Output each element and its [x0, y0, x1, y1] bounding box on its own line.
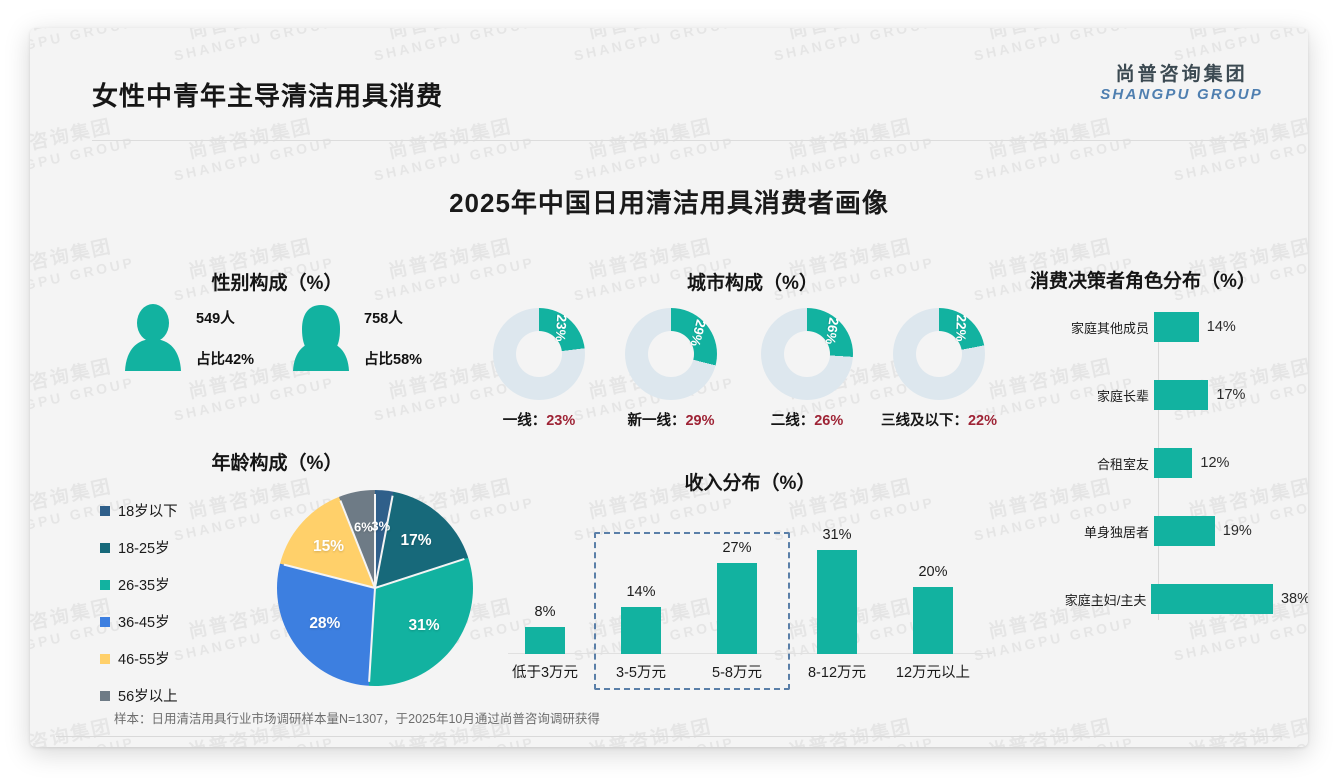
- male-avatar-icon: [122, 303, 184, 373]
- income-category-label: 低于3万元: [495, 661, 595, 682]
- role-bar[interactable]: [1154, 380, 1208, 410]
- legend-label: 26-35岁: [118, 574, 170, 595]
- legend-label: 18-25岁: [118, 537, 170, 558]
- donut-chart: 26%: [761, 308, 853, 400]
- income-category-label: 12万元以上: [883, 661, 983, 682]
- donut-group: 26%二线：26%: [748, 308, 866, 430]
- income-bar-value: 27%: [690, 540, 784, 556]
- decision-maker-role-section: 消费决策者角色分布（%） 家庭其他成员14%家庭长辈17%合租室友12%单身独居…: [1030, 266, 1308, 293]
- donut-value-label: 26%: [822, 316, 841, 345]
- donut-value-label: 23%: [553, 315, 570, 343]
- city-section-title: 城市构成（%）: [480, 268, 1025, 295]
- pie-slice-label: 15%: [313, 538, 344, 556]
- main-title: 2025年中国日用清洁用具消费者画像: [30, 183, 1308, 220]
- female-share: 占比58%: [364, 348, 422, 369]
- income-bar-group: 31%: [790, 527, 884, 655]
- income-bar-value: 8%: [498, 604, 592, 620]
- income-category-label: 3-5万元: [591, 661, 691, 682]
- pie-slice-label: 31%: [408, 617, 439, 635]
- donut-caption: 新一线：29%: [612, 409, 730, 430]
- legend-item[interactable]: 18-25岁: [100, 537, 178, 558]
- watermark-text: 尚普咨询集团SHANGPU GROUP: [968, 711, 1137, 747]
- legend-swatch: [100, 543, 110, 553]
- legend-item[interactable]: 36-45岁: [100, 611, 178, 632]
- watermark-text: 尚普咨询集团SHANGPU GROUP: [768, 111, 937, 185]
- donut-caption: 三线及以下：22%: [880, 409, 998, 430]
- income-bar-group: 8%: [498, 604, 592, 654]
- legend-label: 46-55岁: [118, 648, 170, 669]
- role-bar-row: 单身独居者19%: [1030, 516, 1308, 546]
- income-bar-value: 20%: [886, 564, 980, 580]
- legend-item[interactable]: 56岁以上: [100, 685, 178, 706]
- income-bar-value: 14%: [594, 584, 688, 600]
- watermark-text: 尚普咨询集团SHANGPU GROUP: [30, 111, 137, 185]
- donut-value-label: 22%: [953, 314, 969, 341]
- donut-value-label: 29%: [687, 318, 708, 348]
- donut-group: 23%一线：23%: [480, 308, 598, 430]
- watermark-text: 尚普咨询集团SHANGPU GROUP: [168, 111, 337, 185]
- income-bar[interactable]: [717, 563, 757, 654]
- legend-swatch: [100, 506, 110, 516]
- income-bar[interactable]: [525, 627, 565, 654]
- male-stats: 549人 占比42%: [196, 307, 254, 369]
- role-bar-row: 家庭长辈17%: [1030, 380, 1308, 410]
- income-bar-group: 27%: [690, 540, 784, 654]
- pie-slice-label: 17%: [400, 532, 431, 550]
- income-bar-group: 20%: [886, 564, 980, 654]
- sample-note: 样本：日用清洁用具行业市场调研样本量N=1307，于2025年10月通过尚普咨询…: [114, 708, 600, 727]
- city-composition-section: 城市构成（%） 23%一线：23%29%新一线：29%26%二线：26%22%三…: [480, 268, 1025, 295]
- gender-section-title: 性别构成（%）: [92, 268, 462, 295]
- role-bar[interactable]: [1154, 516, 1215, 546]
- legend-swatch: [100, 617, 110, 627]
- footer-divider: [56, 736, 1282, 737]
- gender-male-group: 549人 占比42%: [122, 303, 254, 373]
- age-legend: 18岁以下18-25岁26-35岁36-45岁46-55岁56岁以上: [100, 500, 178, 722]
- watermark-text: 尚普咨询集团SHANGPU GROUP: [968, 111, 1137, 185]
- income-bar[interactable]: [913, 587, 953, 654]
- role-section-title: 消费决策者角色分布（%）: [1030, 266, 1308, 293]
- income-bar-chart: 8%低于3万元14%3-5万元27%5-8万元31%8-12万元20%12万元以…: [490, 510, 1010, 690]
- pie-slice-label: 28%: [309, 615, 340, 633]
- donut-chart: 29%: [625, 308, 717, 400]
- role-bar-value: 38%: [1281, 591, 1308, 607]
- role-bar-row: 家庭主妇/主夫38%: [1030, 584, 1308, 614]
- income-category-label: 8-12万元: [787, 661, 887, 682]
- female-avatar-icon: [290, 303, 352, 373]
- legend-item[interactable]: 26-35岁: [100, 574, 178, 595]
- female-stats: 758人 占比58%: [364, 307, 422, 369]
- donut-hole: [648, 331, 694, 377]
- role-bar[interactable]: [1154, 448, 1192, 478]
- income-section-title: 收入分布（%）: [490, 468, 1010, 495]
- role-bar-row: 家庭其他成员14%: [1030, 312, 1308, 342]
- donut-chart: 23%: [493, 308, 585, 400]
- role-bar[interactable]: [1154, 312, 1199, 342]
- role-bar-value: 17%: [1216, 387, 1245, 403]
- legend-item[interactable]: 18岁以下: [100, 500, 178, 521]
- income-bar-group: 14%: [594, 584, 688, 654]
- role-bar[interactable]: [1151, 584, 1273, 614]
- role-bar-chart: 家庭其他成员14%家庭长辈17%合租室友12%单身独居者19%家庭主妇/主夫38…: [1030, 304, 1308, 624]
- donut-chart: 22%: [893, 308, 985, 400]
- legend-swatch: [100, 580, 110, 590]
- donut-group: 29%新一线：29%: [612, 308, 730, 430]
- header-divider: [92, 140, 1250, 141]
- watermark-text: 尚普咨询集团SHANGPU GROUP: [1168, 711, 1308, 747]
- income-bar[interactable]: [817, 550, 857, 655]
- income-distribution-section: 收入分布（%） 8%低于3万元14%3-5万元27%5-8万元31%8-12万元…: [490, 468, 1010, 495]
- brand-logo: 尚普咨询集团 SHANGPU GROUP: [1100, 64, 1263, 104]
- income-bar[interactable]: [621, 607, 661, 654]
- role-category-label: 家庭其他成员: [1030, 318, 1154, 337]
- legend-label: 18岁以下: [118, 500, 178, 521]
- gender-composition-section: 性别构成（%） 549人 占比42% 758人 占比58%: [92, 268, 462, 295]
- watermark-text: 尚普咨询集团SHANGPU GROUP: [568, 111, 737, 185]
- legend-label: 36-45岁: [118, 611, 170, 632]
- role-bar-value: 14%: [1207, 319, 1236, 335]
- female-count: 758人: [364, 307, 422, 328]
- role-bar-value: 12%: [1200, 455, 1229, 471]
- role-category-label: 家庭长辈: [1030, 386, 1154, 405]
- income-category-label: 5-8万元: [687, 661, 787, 682]
- role-category-label: 单身独居者: [1030, 522, 1154, 541]
- brand-name-cn: 尚普咨询集团: [1100, 64, 1263, 86]
- donut-caption: 二线：26%: [748, 409, 866, 430]
- pie-slice-label: 6%: [354, 520, 373, 535]
- role-bar-row: 合租室友12%: [1030, 448, 1308, 478]
- watermark-text: 尚普咨询集团SHANGPU GROUP: [30, 351, 137, 425]
- legend-label: 56岁以上: [118, 685, 178, 706]
- watermark-text: 尚普咨询集团SHANGPU GROUP: [368, 111, 537, 185]
- watermark-text: 尚普咨询集团SHANGPU GROUP: [768, 711, 937, 747]
- legend-swatch: [100, 654, 110, 664]
- male-share: 占比42%: [196, 348, 254, 369]
- donut-group: 22%三线及以下：22%: [880, 308, 998, 430]
- role-category-label: 合租室友: [1030, 454, 1154, 473]
- page-title: 女性中青年主导清洁用具消费: [92, 76, 443, 113]
- role-category-label: 家庭主妇/主夫: [1030, 590, 1151, 609]
- brand-name-en: SHANGPU GROUP: [1100, 86, 1263, 104]
- gender-female-group: 758人 占比58%: [290, 303, 422, 373]
- legend-swatch: [100, 691, 110, 701]
- age-section-title: 年龄构成（%）: [92, 448, 462, 475]
- legend-item[interactable]: 46-55岁: [100, 648, 178, 669]
- donut-caption: 一线：23%: [480, 409, 598, 430]
- slide-card: 尚普咨询集团SHANGPU GROUP尚普咨询集团SHANGPU GROUP尚普…: [30, 28, 1308, 747]
- slide-header: 女性中青年主导清洁用具消费 尚普咨询集团 SHANGPU GROUP: [30, 28, 1308, 112]
- male-count: 549人: [196, 307, 254, 328]
- role-bar-value: 19%: [1223, 523, 1252, 539]
- income-bar-value: 31%: [790, 527, 884, 543]
- age-pie-chart: 3%17%31%28%15%6%: [277, 490, 473, 686]
- watermark-text: 尚普咨询集团SHANGPU GROUP: [1168, 111, 1308, 185]
- age-composition-section: 年龄构成（%） 18岁以下18-25岁26-35岁36-45岁46-55岁56岁…: [92, 448, 472, 475]
